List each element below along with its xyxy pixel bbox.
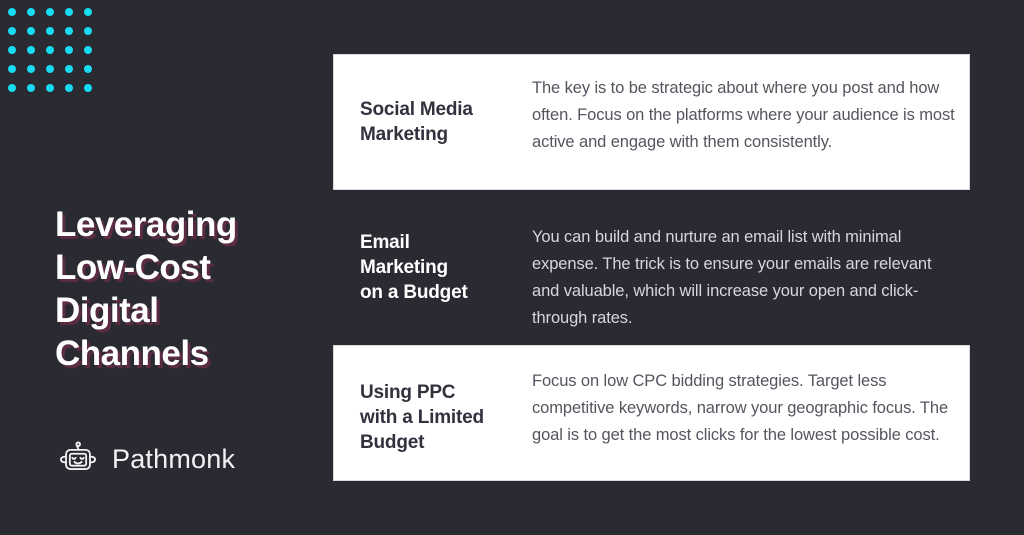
card-body-text: You can build and nurture an email list … — [532, 224, 969, 332]
page-title: Leveraging Low-Cost Digital Channels — [55, 203, 325, 375]
slide-canvas: Leveraging Low-Cost Digital Channels — [0, 0, 1024, 535]
card-title: Email Marketing on a Budget — [334, 224, 532, 305]
left-column: Leveraging Low-Cost Digital Channels — [0, 0, 330, 535]
content-card: Social Media Marketing The key is to be … — [333, 54, 970, 190]
card-title-line: with a Limited — [360, 405, 532, 430]
content-card: Using PPC with a Limited Budget Focus on… — [333, 345, 970, 481]
card-body-text: The key is to be strategic about where y… — [532, 75, 969, 156]
page-title-line: Leveraging — [55, 203, 325, 246]
brand-logo: Pathmonk — [55, 436, 235, 482]
page-title-line: Low-Cost — [55, 246, 325, 289]
card-title-line: Marketing — [360, 255, 532, 280]
card-title-line: Email — [360, 230, 532, 255]
card-body-text: Focus on low CPC bidding strategies. Tar… — [532, 368, 969, 449]
brand-name: Pathmonk — [112, 444, 235, 475]
card-title-line: Marketing — [360, 122, 532, 147]
content-card: Email Marketing on a Budget You can buil… — [333, 207, 970, 343]
pathmonk-robot-logo-icon — [55, 436, 101, 482]
card-title-line: Budget — [360, 430, 532, 455]
page-title-line: Channels — [55, 332, 325, 375]
page-title-line: Digital — [55, 289, 325, 332]
card-title-line: on a Budget — [360, 280, 532, 305]
card-title-line: Using PPC — [360, 380, 532, 405]
card-title-line: Social Media — [360, 97, 532, 122]
card-title: Social Media Marketing — [334, 75, 532, 147]
card-title: Using PPC with a Limited Budget — [334, 368, 532, 455]
